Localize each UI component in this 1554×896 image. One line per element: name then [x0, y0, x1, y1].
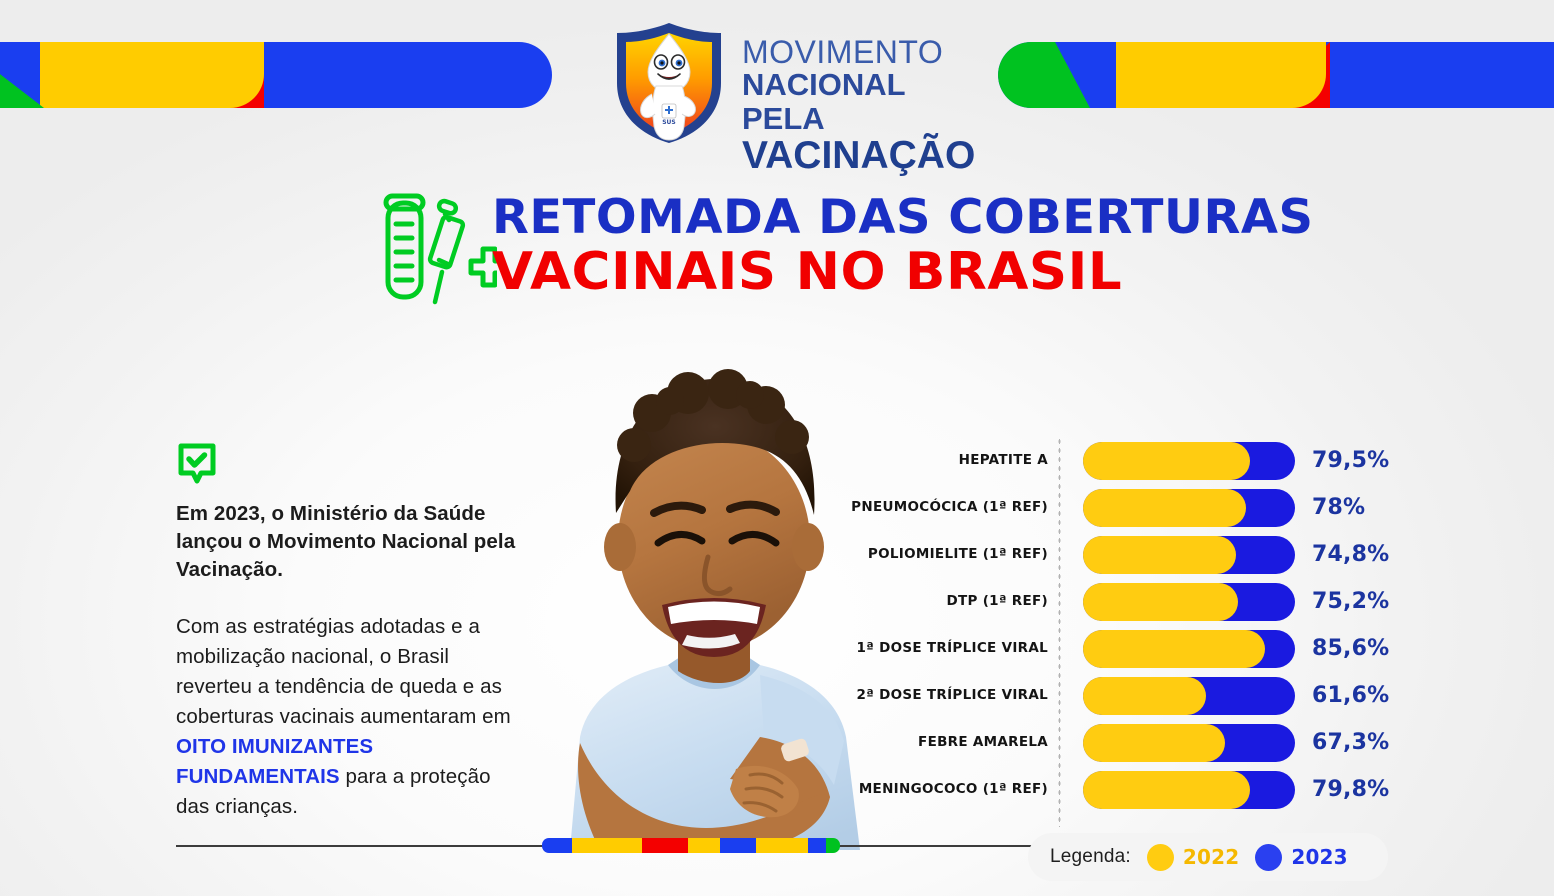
chart-row-label: POLIOMIELITE (1ª REF) — [860, 534, 1048, 574]
legend-label-2022: 2022 — [1183, 845, 1239, 869]
chart-row-value: 85,6% — [1312, 628, 1389, 668]
chart-bar-2022 — [1083, 536, 1236, 574]
chart-row-label: PNEUMOCÓCICA (1ª REF) — [860, 487, 1048, 527]
coverage-bar-chart: HEPATITE A79,5%PNEUMOCÓCICA (1ª REF)78%P… — [860, 430, 1420, 830]
chart-legend: Legenda: 2022 2023 — [1028, 833, 1388, 881]
chart-row: 1ª DOSE TRÍPLICE VIRAL85,6% — [860, 628, 1420, 668]
logo-line-2: NACIONAL PELA — [742, 68, 982, 136]
legend-item-2022[interactable]: 2022 — [1147, 844, 1239, 871]
banner-segment-yellow-cap — [196, 42, 264, 108]
strip-segment-yellow — [756, 838, 812, 853]
page-title: RETOMADA DAS COBERTURAS VACINAIS NO BRAS… — [492, 192, 1297, 300]
chart-row: FEBRE AMARELA67,3% — [860, 722, 1420, 762]
decorative-banner-right — [998, 42, 1554, 108]
syringe-icon — [429, 200, 464, 302]
legend-item-2023[interactable]: 2023 — [1255, 844, 1347, 871]
title-line-1: RETOMADA DAS COBERTURAS — [492, 192, 1314, 244]
chart-row-label: 1ª DOSE TRÍPLICE VIRAL — [860, 628, 1048, 668]
strip-segment-blue — [808, 838, 828, 853]
chart-bar-2023 — [1083, 442, 1295, 480]
chart-row-value: 61,6% — [1312, 675, 1389, 715]
legend-label-2023: 2023 — [1291, 845, 1347, 869]
chart-bar-2022 — [1083, 771, 1250, 809]
chart-bar-2023 — [1083, 677, 1295, 715]
title-icon-group — [382, 190, 497, 308]
chart-row-value: 79,5% — [1312, 440, 1389, 480]
chart-bar-2022 — [1083, 677, 1206, 715]
logo-line-3: VACINAÇÃO — [742, 136, 982, 176]
test-tube-icon — [386, 196, 423, 297]
ze-gotinha-shield-icon: SUS — [608, 20, 730, 146]
chart-row-label: DTP (1ª REF) — [860, 581, 1048, 621]
chart-row-value: 67,3% — [1312, 722, 1389, 762]
chart-bar-2022 — [1083, 489, 1246, 527]
chart-row-label: MENINGOCOCO (1ª REF) — [860, 769, 1048, 809]
chart-bar-2023 — [1083, 489, 1295, 527]
title-line-2: VACINAIS NO BRASIL — [492, 244, 1314, 300]
chart-row-label: FEBRE AMARELA — [860, 722, 1048, 762]
strip-segment-yellow — [572, 838, 648, 853]
infographic-page: SUS MOVIMENTO NACIONAL PELA VACINAÇÃO — [0, 0, 1554, 896]
strip-segment-red — [642, 838, 690, 853]
chart-bar-2023 — [1083, 536, 1295, 574]
chart-row: PNEUMOCÓCICA (1ª REF)78% — [860, 487, 1420, 527]
legend-title: Legenda: — [1050, 846, 1131, 868]
decorative-banner-left — [0, 42, 552, 108]
chart-bar-2022 — [1083, 583, 1238, 621]
chart-bar-2023 — [1083, 583, 1295, 621]
brand-logo: SUS MOVIMENTO NACIONAL PELA VACINAÇÃO — [600, 18, 980, 146]
chart-bar-2023 — [1083, 771, 1295, 809]
chart-bar-2022 — [1083, 442, 1250, 480]
chart-bar-2023 — [1083, 724, 1295, 762]
logo-wordmark: MOVIMENTO NACIONAL PELA VACINAÇÃO — [742, 36, 982, 176]
strip-segment-green — [826, 838, 840, 853]
legend-swatch-2022 — [1147, 844, 1174, 871]
strip-segment-blue — [720, 838, 758, 853]
chart-bar-2022 — [1083, 724, 1225, 762]
chart-row: DTP (1ª REF)75,2% — [860, 581, 1420, 621]
chart-row: MENINGOCOCO (1ª REF)79,8% — [860, 769, 1420, 809]
chart-row-value: 75,2% — [1312, 581, 1389, 621]
chart-bar-2022 — [1083, 630, 1265, 668]
strip-segment-blue — [542, 838, 576, 853]
chart-row-label: HEPATITE A — [860, 440, 1048, 480]
logo-line-1: MOVIMENTO — [742, 36, 982, 68]
svg-text:SUS: SUS — [662, 119, 676, 126]
chart-row: 2ª DOSE TRÍPLICE VIRAL61,6% — [860, 675, 1420, 715]
chart-row: POLIOMIELITE (1ª REF)74,8% — [860, 534, 1420, 574]
decorative-color-strip — [542, 838, 840, 853]
chart-bar-2023 — [1083, 630, 1295, 668]
legend-swatch-2023 — [1255, 844, 1282, 871]
chart-row-value: 74,8% — [1312, 534, 1389, 574]
chart-row-label: 2ª DOSE TRÍPLICE VIRAL — [860, 675, 1048, 715]
chart-row: HEPATITE A79,5% — [860, 440, 1420, 480]
check-bubble-icon — [178, 443, 216, 485]
strip-segment-yellow — [688, 838, 724, 853]
chart-row-value: 78% — [1312, 487, 1365, 527]
chart-row-value: 79,8% — [1312, 769, 1389, 809]
